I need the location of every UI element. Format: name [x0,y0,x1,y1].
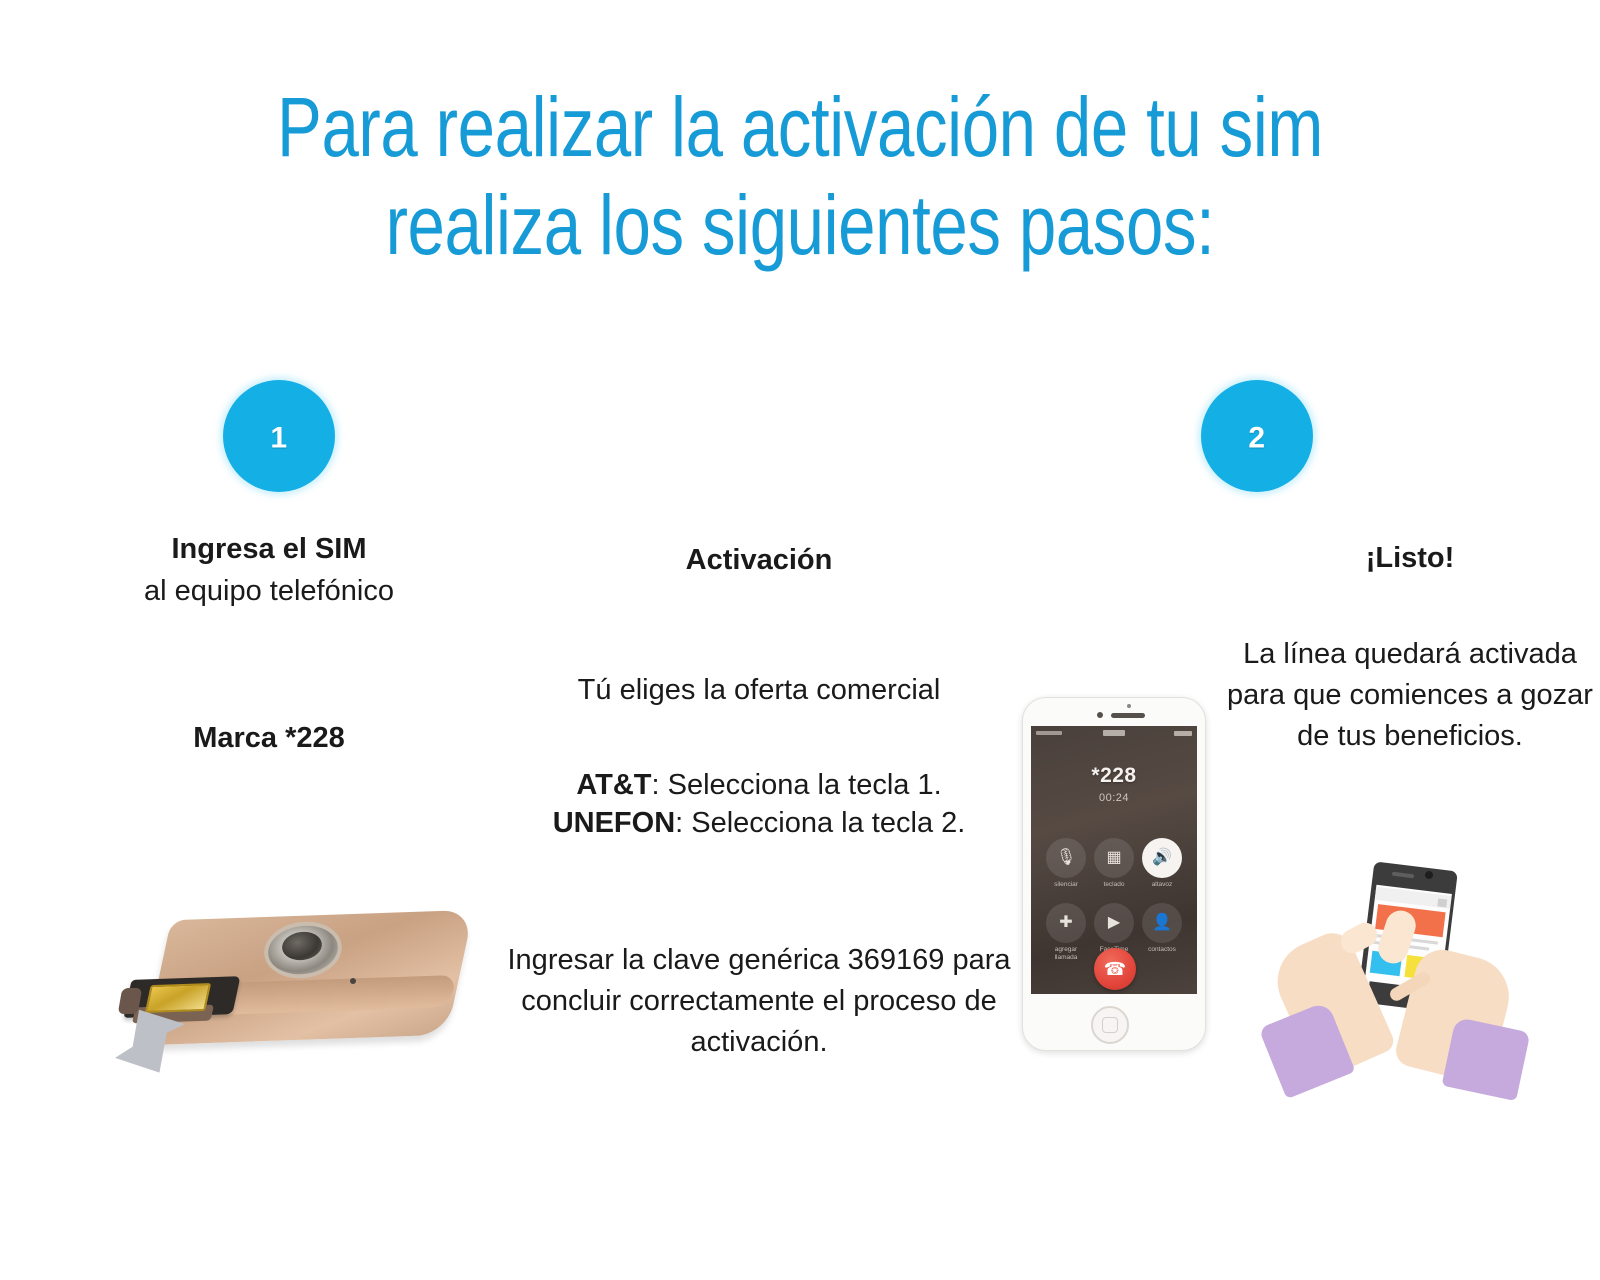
call-option-contactos[interactable]: 👤 contactos [1141,903,1183,962]
step-2-column: 2 Activación Tú eliges la oferta comerci… [494,0,1024,1280]
step-1-column: 1 Ingresa el SIM al equipo telefónico Ma… [44,0,494,1280]
step-2-note: Ingresar la clave genérica 369169 para c… [502,940,1016,1063]
video-camera-icon[interactable]: ▶ [1094,903,1134,943]
sim-tray-illustration [104,880,504,1080]
earpiece-speaker [1111,713,1145,718]
step-3-body: La línea quedará activada para que comie… [1220,634,1600,757]
option-unefon-instruction: : Selecciona la tecla 2. [675,807,965,839]
keypad-icon[interactable]: ▦ [1094,838,1134,878]
step-1-heading-regular: al equipo telefónico [44,570,494,612]
step-2-options: AT&T: Selecciona la tecla 1. UNEFON: Sel… [494,766,1024,842]
call-option-contactos-label: contactos [1141,946,1183,954]
step-1-heading: Ingresa el SIM al equipo telefónico [44,528,494,612]
call-option-altavoz-label: altavoz [1141,881,1183,889]
clock-indicator [1103,730,1125,736]
call-options-row-1: 🎙 silenciar ▦ teclado 🔊 altavoz [1045,838,1183,889]
contacts-icon[interactable]: 👤 [1142,903,1182,943]
dialed-number: *228 [1031,764,1197,788]
call-option-teclado[interactable]: ▦ teclado [1093,838,1135,889]
call-option-teclado-label: teclado [1093,881,1135,889]
add-call-icon[interactable]: ✚ [1046,903,1086,943]
microphone-mute-icon[interactable]: 🎙 [1046,838,1086,878]
hands-holding-phone-illustration [1282,862,1552,1082]
option-unefon: UNEFON: Selecciona la tecla 2. [494,804,1024,842]
home-button-inner-ring [1102,1017,1118,1033]
call-option-silenciar[interactable]: 🎙 silenciar [1045,838,1087,889]
step-2-heading: Activación [494,544,1024,577]
option-att: AT&T: Selecciona la tecla 1. [494,766,1024,804]
call-option-agregar-llamada-label: agregar llamada [1045,946,1087,962]
call-option-silenciar-label: silenciar [1045,881,1087,889]
end-call-handset-icon[interactable]: ☎ [1094,948,1136,990]
speaker-icon[interactable]: 🔊 [1142,838,1182,878]
step-2-intro: Tú eliges la oferta comercial [494,674,1024,707]
step-1-badge: 1 [223,380,335,492]
step-1-number: 1 [223,422,335,456]
step-1-heading-bold: Ingresa el SIM [44,528,494,570]
iphone-in-call-illustration: *228 00:24 🎙 silenciar ▦ teclado 🔊 altav… [1022,697,1206,1051]
option-unefon-brand: UNEFON [553,807,675,839]
call-timer: 00:24 [1031,792,1197,804]
illustration-screen-topbar-square [1437,898,1447,907]
battery-indicator-icon [1174,731,1192,736]
microphone-dot-icon [350,978,356,984]
call-option-agregar-llamada[interactable]: ✚ agregar llamada [1045,903,1087,962]
status-bar [1031,728,1197,738]
step-3-heading: ¡Listo! [1220,542,1600,575]
home-button[interactable] [1091,1006,1129,1044]
call-screen: *228 00:24 🎙 silenciar ▦ teclado 🔊 altav… [1031,726,1197,994]
front-camera-icon [1097,712,1103,718]
option-att-brand: AT&T [576,769,651,801]
step-1-emphasis: Marca *228 [44,722,494,755]
proximity-sensor-icon [1127,704,1131,708]
sim-card-icon [145,983,211,1013]
step-3-column: 3 ¡Listo! La línea quedará activada para… [1220,0,1600,1280]
option-att-instruction: : Selecciona la tecla 1. [652,769,942,801]
call-option-altavoz[interactable]: 🔊 altavoz [1141,838,1183,889]
signal-indicator-icon [1036,731,1062,735]
